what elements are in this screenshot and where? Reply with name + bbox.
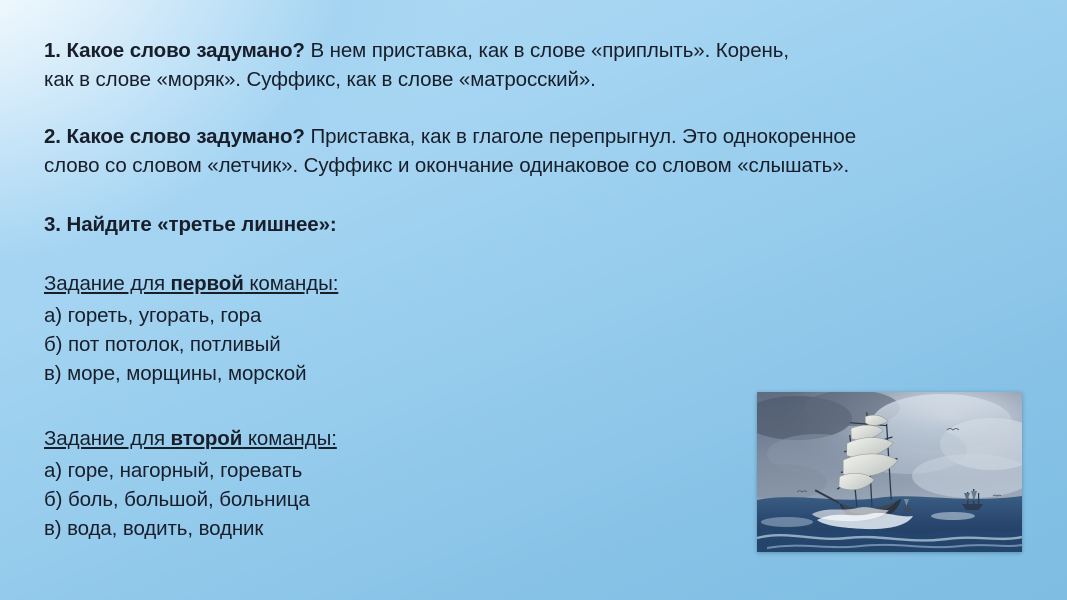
team-first-title-suffix: команды: xyxy=(244,272,339,295)
ship-painting-svg xyxy=(757,392,1022,552)
question-1-number: 1. xyxy=(44,39,61,62)
question-3-heading: 3. Найдите «третье лишнее»: xyxy=(44,210,1034,239)
team-second-title-bold: второй xyxy=(171,427,243,450)
team-second-title-suffix: команды: xyxy=(242,427,337,450)
team-first-item-v: в) море, морщины, морской xyxy=(44,359,1034,388)
slide-canvas: 1. Какое слово задумано? В нем приставка… xyxy=(0,0,1067,600)
question-2-number: 2. xyxy=(44,125,61,148)
team-first-item-b: б) пот потолок, потливый xyxy=(44,330,1034,359)
question-1-lead: Какое слово задумано? xyxy=(67,39,305,62)
team-second-title: Задание для второй команды: xyxy=(44,424,337,453)
team-block-first: Задание для первой команды: а) гореть, у… xyxy=(44,269,1034,388)
ship-painting-image xyxy=(757,392,1022,552)
team-first-title: Задание для первой команды: xyxy=(44,269,338,298)
team-first-item-a: а) гореть, угорать, гора xyxy=(44,301,1034,330)
question-2: 2. Какое слово задумано? Приставка, как … xyxy=(44,122,1034,180)
team-second-title-prefix: Задание для xyxy=(44,427,171,450)
question-2-lead: Какое слово задумано? xyxy=(67,125,305,148)
team-first-title-bold: первой xyxy=(171,272,244,295)
question-1: 1. Какое слово задумано? В нем приставка… xyxy=(44,36,1034,94)
team-first-title-prefix: Задание для xyxy=(44,272,171,295)
